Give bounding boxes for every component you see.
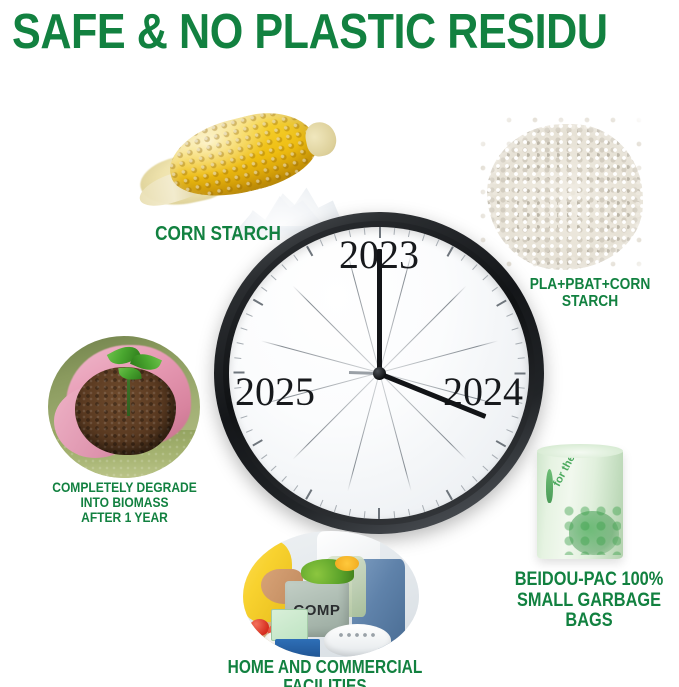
compost-facilities-image: COMP — [243, 531, 419, 657]
roll-print-pattern — [563, 505, 621, 555]
seedling-caption: COMPLETELY DEGRADE INTO BIOMASS AFTER 1 … — [36, 480, 212, 525]
clock-minute-hand — [377, 249, 382, 373]
bag-roll-top — [537, 444, 623, 458]
seedling-circle-frame — [48, 336, 200, 478]
infographic-canvas: SAFE & NO PLASTIC RESIDU CORN STARCH PLA… — [0, 0, 679, 687]
clock-center-hub — [373, 367, 386, 380]
seedling-image — [48, 336, 200, 478]
compost-caption: HOME AND COMMERCIAL FACILITIES — [222, 658, 428, 687]
countertop-bin-lid — [324, 624, 391, 657]
page-title: SAFE & NO PLASTIC RESIDU — [12, 6, 608, 58]
bag-roll-body: for the Future — [537, 449, 623, 559]
degradation-timeline-clock: 2023 2024 2025 — [214, 212, 544, 534]
clock-numeral-2025: 2025 — [235, 372, 315, 412]
clock-minute-tick — [379, 373, 380, 519]
bin-lid-vents — [338, 632, 377, 640]
product-caption: BEIDOU-PAC 100% SMALL GARBAGE BAGS — [512, 570, 665, 632]
clock-face: 2023 2024 2025 — [229, 227, 529, 519]
clock-minute-tick — [246, 313, 380, 373]
garbage-bag-roll-image: for the Future — [537, 449, 623, 559]
roll-print-leaf-icon — [546, 469, 553, 503]
soil-clump — [75, 367, 175, 455]
tomato-icon — [250, 619, 269, 635]
product-box — [275, 639, 321, 657]
corn-starch-image — [138, 104, 328, 224]
green-bag-pack — [271, 609, 308, 641]
